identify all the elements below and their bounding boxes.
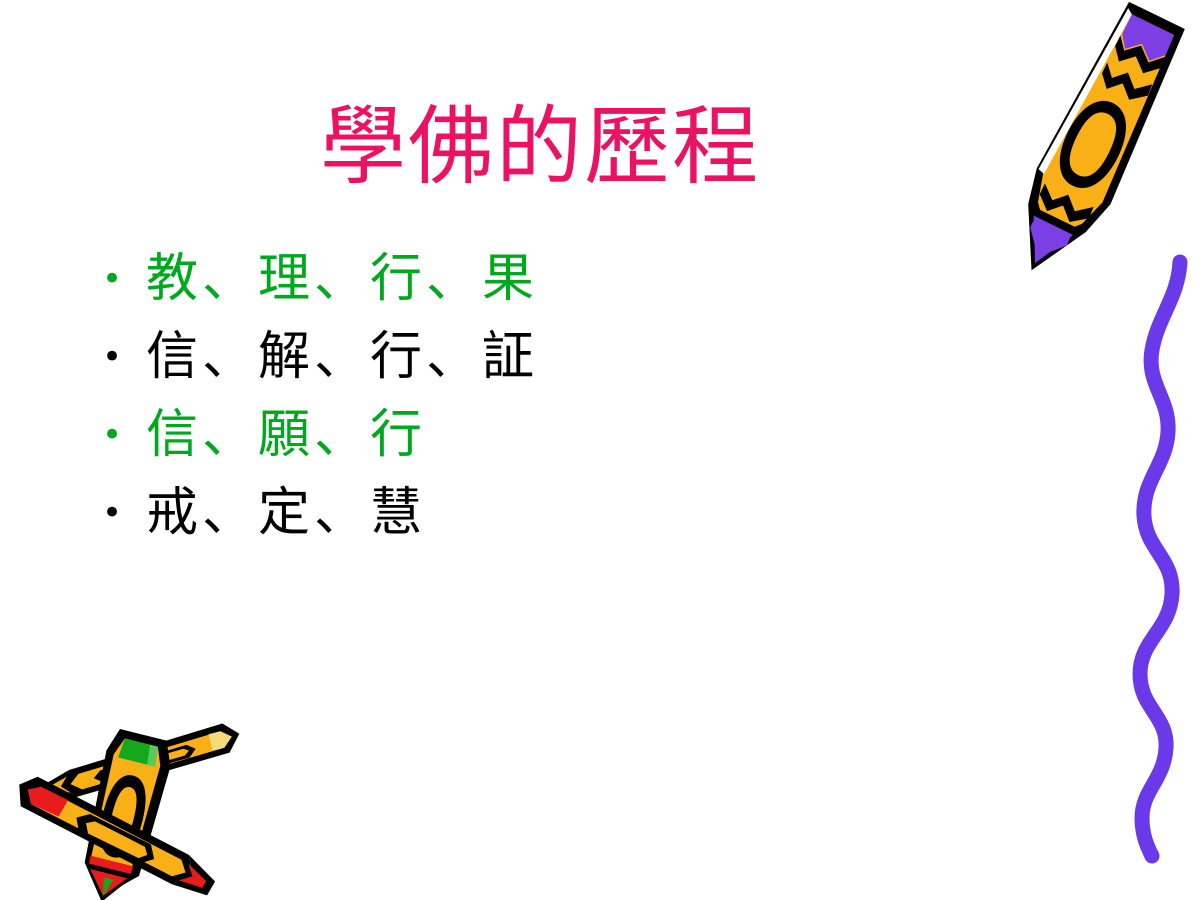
list-item: • 信、願、行 [96, 396, 916, 474]
crayon-icon [985, 0, 1200, 294]
list-item: • 教、理、行、果 [96, 240, 916, 318]
squiggle-line-icon [1118, 258, 1200, 858]
bullet-point-icon: • [96, 262, 146, 296]
list-item-label: 信、願、行 [146, 409, 426, 461]
list-item: • 信、解、行、証 [96, 318, 916, 396]
bullet-point-icon: • [96, 418, 146, 452]
slide-canvas: 學佛的歷程 • 教、理、行、果 • 信、解、行、証 • 信、願、行 • 戒、定、… [0, 0, 1200, 900]
page-title: 學佛的歷程 [0, 104, 1080, 190]
bullet-point-icon: • [96, 496, 146, 530]
list-item-label: 教、理、行、果 [146, 253, 538, 305]
bullet-point-icon: • [96, 340, 146, 374]
crossed-crayons-icon [2, 712, 267, 900]
bullet-list: • 教、理、行、果 • 信、解、行、証 • 信、願、行 • 戒、定、慧 [96, 240, 916, 552]
list-item-label: 戒、定、慧 [146, 487, 426, 539]
list-item-label: 信、解、行、証 [146, 331, 538, 383]
list-item: • 戒、定、慧 [96, 474, 916, 552]
